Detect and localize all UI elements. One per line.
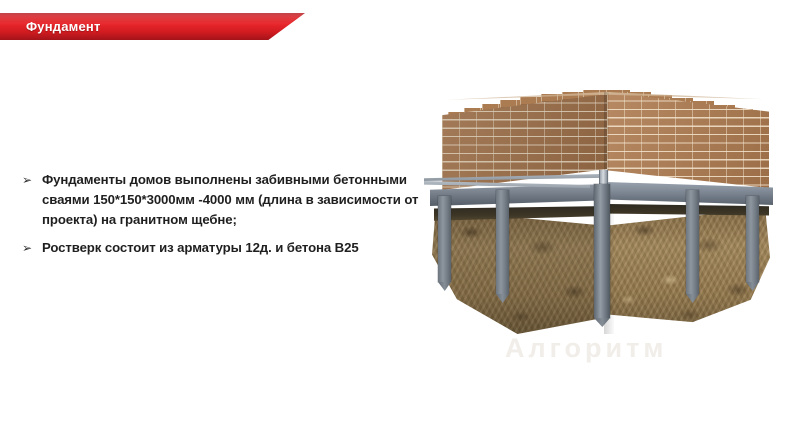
bullet-list: ➢ Фундаменты домов выполнены забивными б… — [22, 170, 422, 266]
pile-corner — [594, 184, 610, 318]
list-item: ➢ Ростверк состоит из арматуры 12д. и бе… — [22, 238, 422, 258]
pile-left-mid — [496, 190, 509, 294]
arrow-bullet-icon: ➢ — [22, 238, 42, 258]
bullet-text-grillage: Ростверк состоит из арматуры 12д. и бето… — [42, 238, 422, 258]
arrow-bullet-icon: ➢ — [22, 170, 42, 190]
soil-face-left — [432, 210, 610, 334]
slide-root: Фундамент ➢ Фундаменты домов выполнены з… — [0, 0, 800, 425]
watermark: Алгоритм — [505, 333, 745, 363]
pile-right-outer — [746, 196, 759, 282]
list-item: ➢ Фундаменты домов выполнены забивными б… — [22, 170, 422, 230]
page-title: Фундамент — [26, 13, 101, 40]
foundation-illustration — [424, 78, 776, 340]
grillage-beam-right-top — [424, 181, 590, 188]
header-banner: Фундамент — [0, 13, 305, 40]
grillage-beam-left-top — [424, 174, 602, 181]
pile-left-outer — [438, 196, 451, 282]
bullet-text-piles: Фундаменты домов выполнены забивными бет… — [42, 170, 422, 230]
pile-right-mid — [686, 190, 699, 294]
